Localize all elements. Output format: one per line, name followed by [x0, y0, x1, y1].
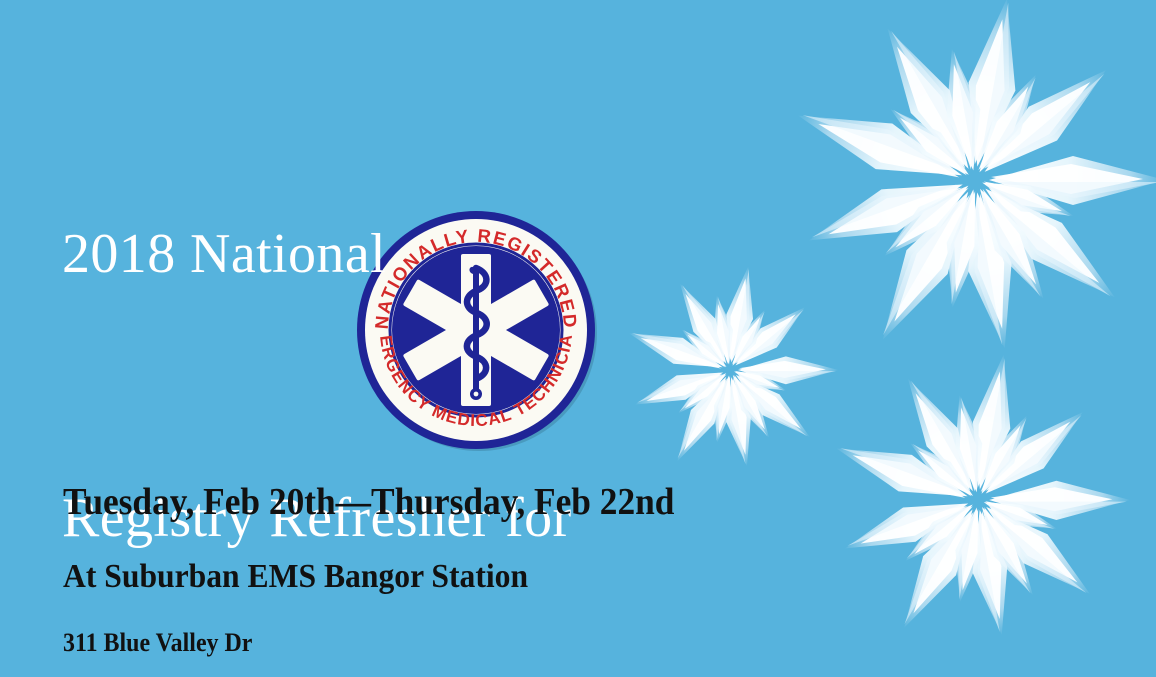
- poster-canvas: NATIONALLY REGISTERED EMERGENCY MEDICAL …: [0, 0, 1156, 677]
- event-dates: Tuesday, Feb 20th—Thursday, Feb 22nd: [63, 465, 674, 539]
- event-address: 311 Blue Valley Dr: [63, 615, 668, 671]
- event-venue: At Suburban EMS Bangor Station: [63, 539, 674, 615]
- heading-line-1: 2018 National: [62, 210, 762, 298]
- event-details: Tuesday, Feb 20th—Thursday, Feb 22nd At …: [63, 465, 720, 671]
